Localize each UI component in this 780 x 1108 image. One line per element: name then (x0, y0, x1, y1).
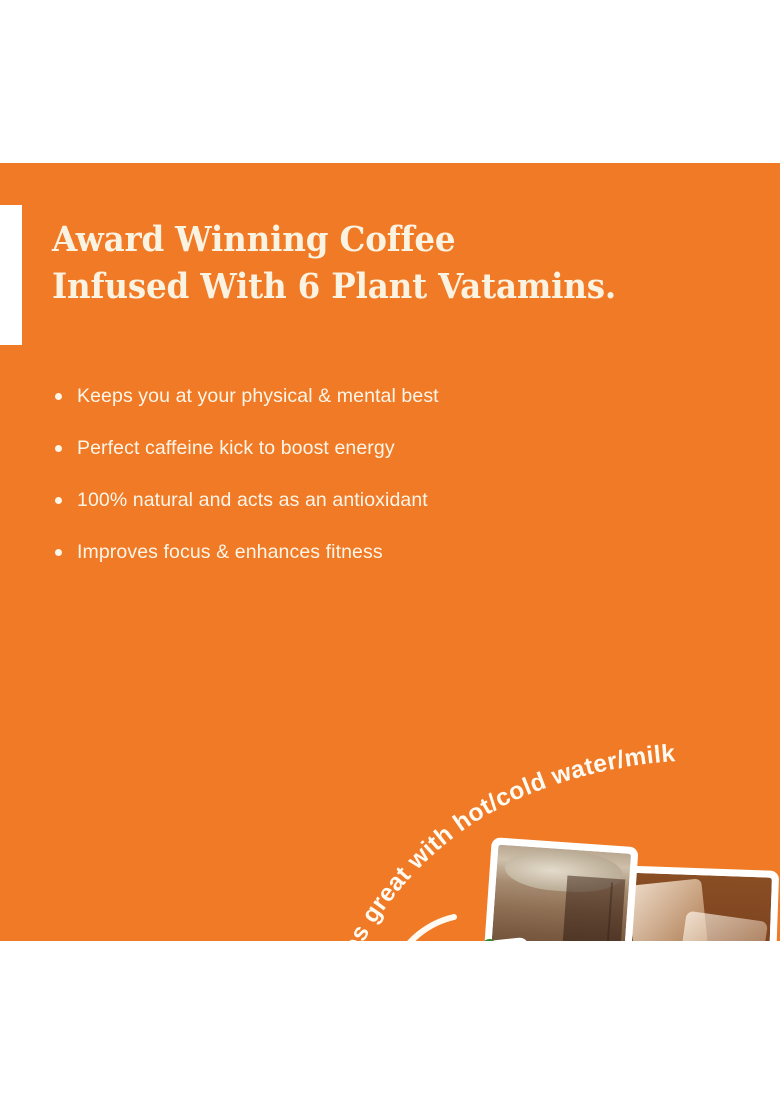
headline-line-1: Award Winning Coffee (52, 219, 455, 260)
list-item: 100% natural and acts as an antioxidant (50, 488, 610, 512)
list-item: Perfect caffeine kick to boost energy (50, 436, 610, 460)
cold-brew-with-ice-glass (614, 872, 772, 941)
bullet-dot-icon (55, 497, 62, 504)
bullet-dot-icon (55, 549, 62, 556)
benefit-label: Keeps you at your physical & mental best (77, 385, 439, 407)
list-item: Keeps you at your physical & mental best (50, 384, 610, 408)
list-item: Improves focus & enhances fitness (50, 540, 610, 564)
promo-banner: Award Winning Coffee Infused With 6 Plan… (0, 0, 780, 1108)
top-white-band (0, 0, 780, 163)
product-photo-cluster (380, 839, 780, 941)
headline-line-2: Infused With 6 Plant Vatamins. (52, 263, 666, 310)
bullet-dot-icon (55, 445, 62, 452)
orange-content-panel: Award Winning Coffee Infused With 6 Plan… (0, 163, 780, 941)
benefit-label: 100% natural and acts as an antioxidant (77, 489, 428, 511)
left-white-tab (0, 205, 22, 345)
benefit-label: Perfect caffeine kick to boost energy (77, 437, 395, 459)
benefit-label: Improves focus & enhances fitness (77, 541, 383, 563)
benefits-list: Keeps you at your physical & mental best… (50, 384, 610, 564)
page-title: Award Winning Coffee Infused With 6 Plan… (52, 216, 666, 310)
bottom-white-band (0, 941, 780, 1108)
bullet-dot-icon (55, 393, 62, 400)
layered-latte-glass (486, 845, 631, 941)
